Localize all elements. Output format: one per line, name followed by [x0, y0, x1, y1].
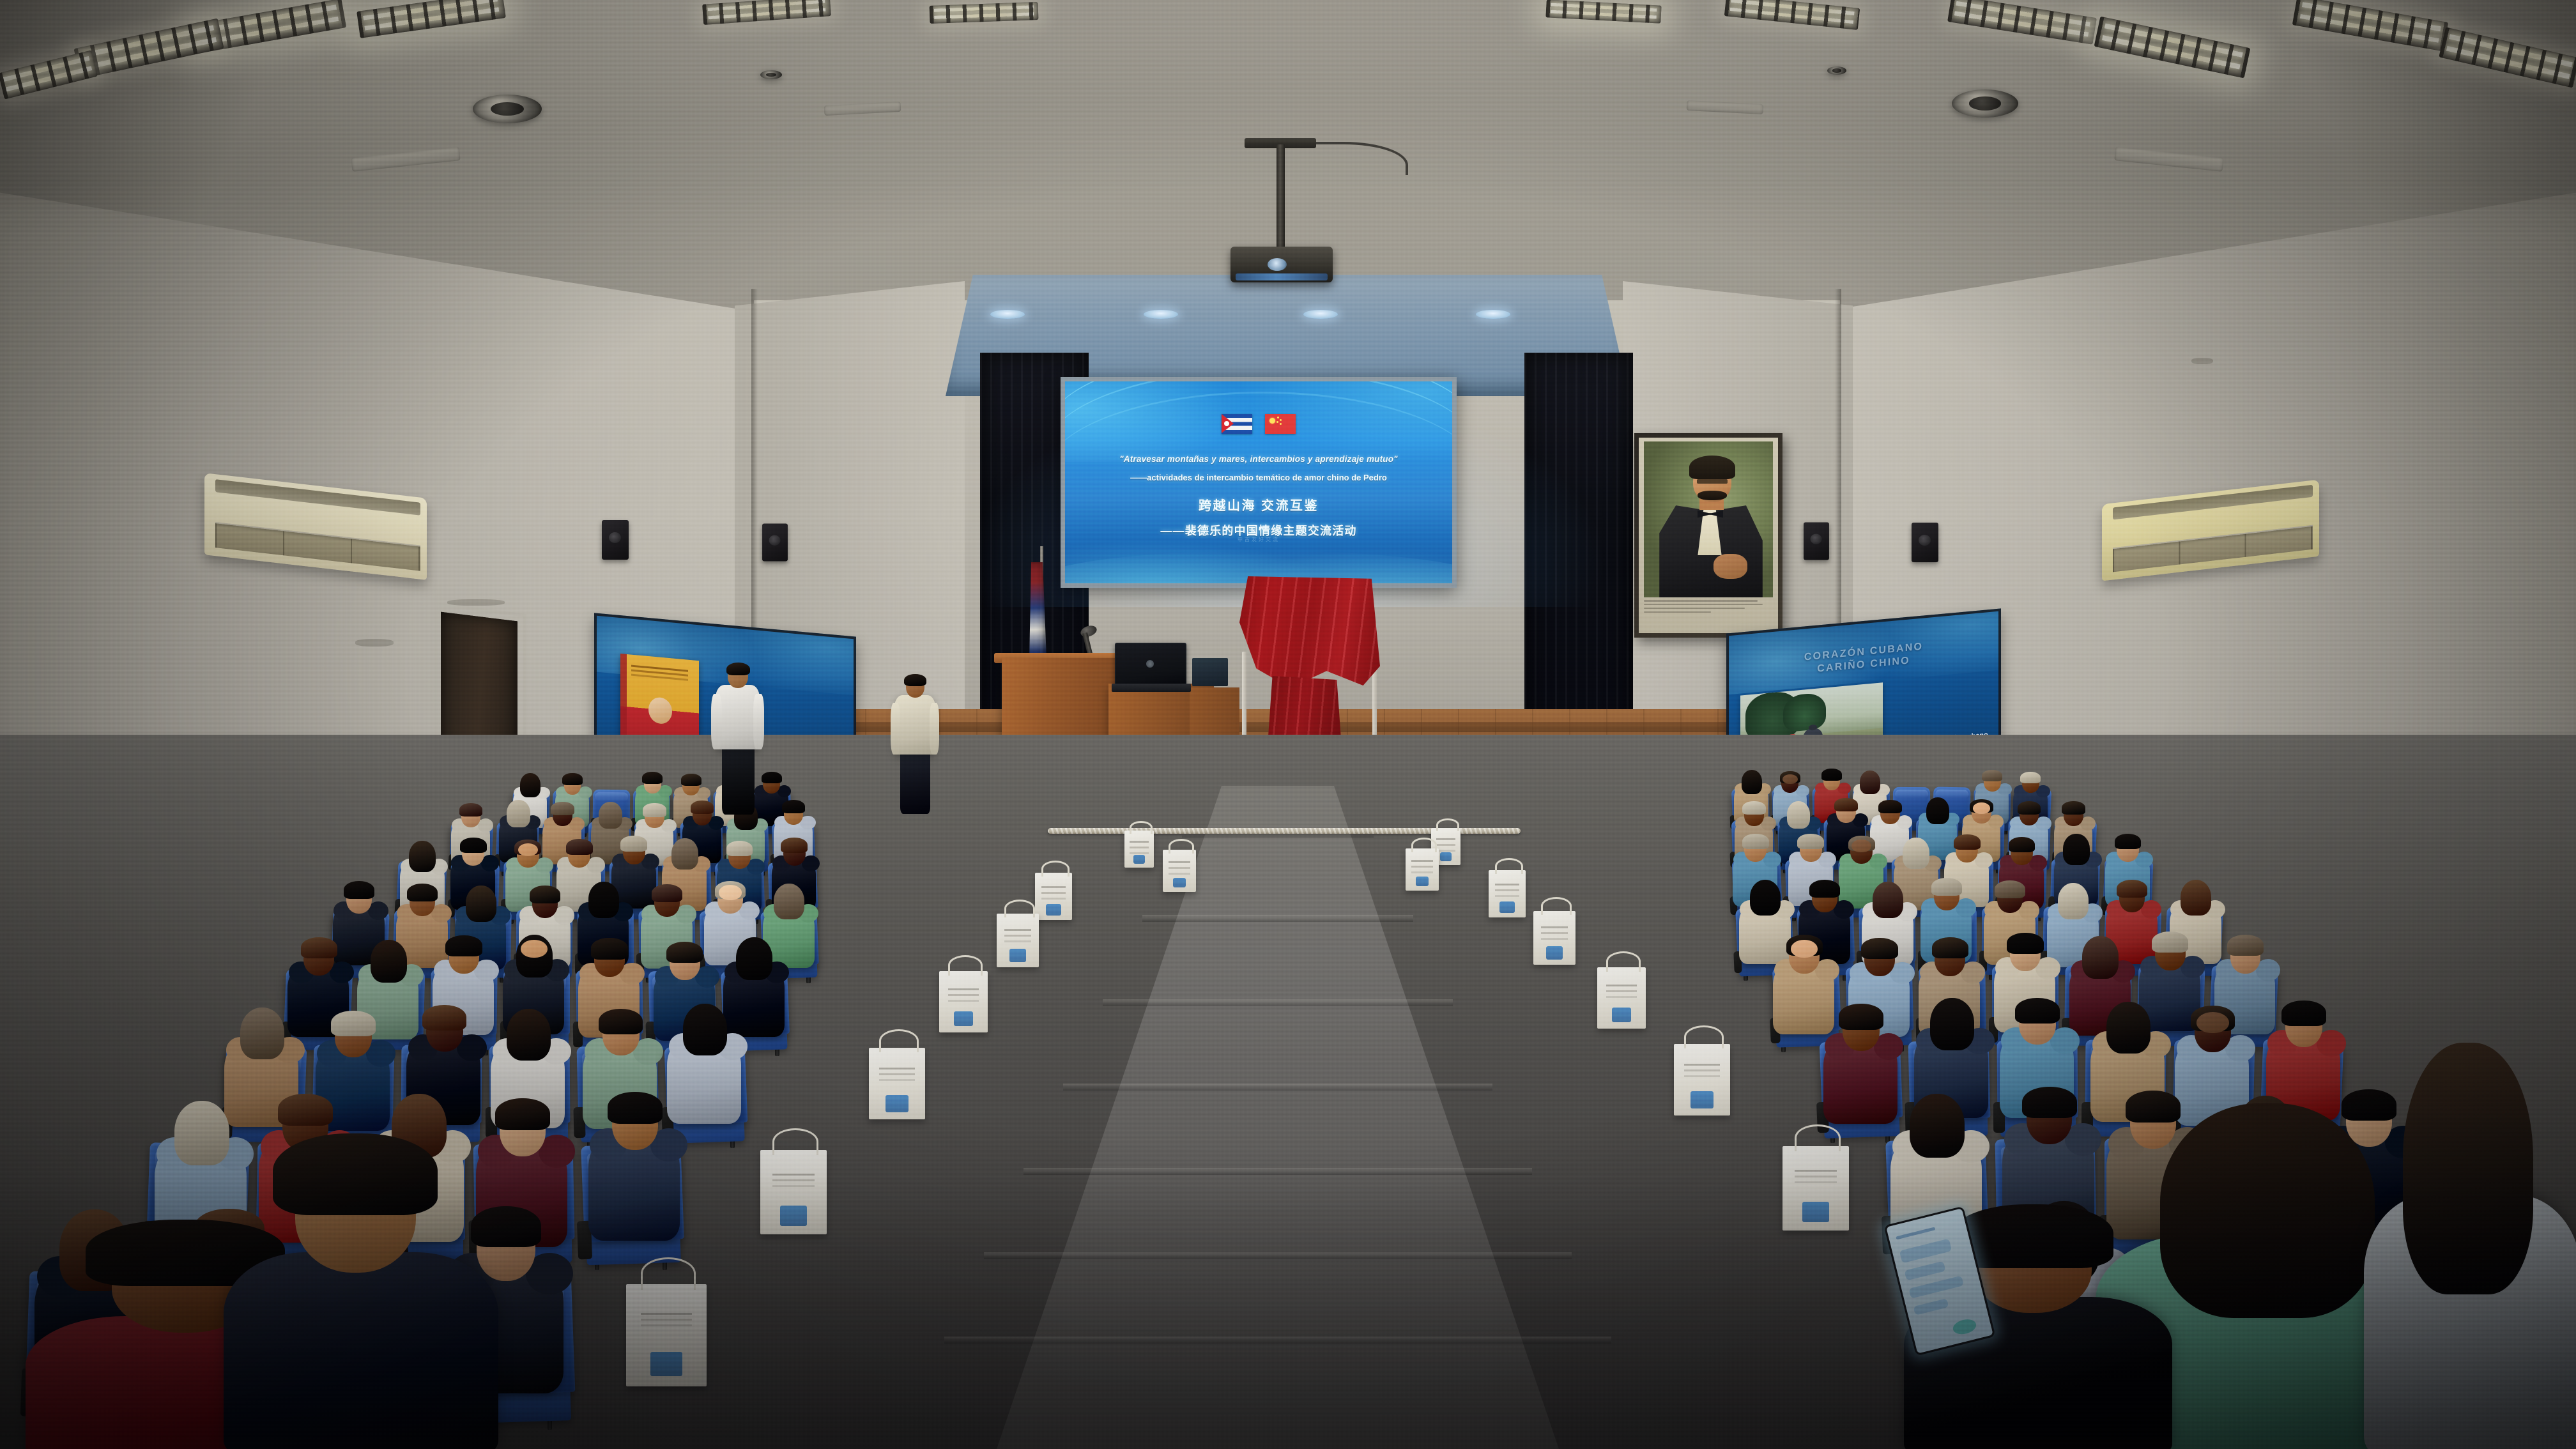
framed-portrait-jose-marti	[1634, 433, 1782, 638]
foreground-attendee-dark-hair	[273, 1133, 438, 1215]
attendee-hair	[781, 838, 808, 853]
attendee-bald-crown	[1851, 839, 1871, 852]
attendee-hair	[2018, 801, 2041, 815]
attendee-hair	[1931, 878, 1963, 896]
attendee-hair	[591, 938, 627, 959]
tote-bag-icon[interactable]	[1533, 911, 1575, 965]
attendee-hair	[762, 772, 782, 784]
attendee-hair	[278, 1094, 333, 1126]
attendee-hair	[2015, 998, 2060, 1023]
tote-bag-icon[interactable]	[939, 971, 988, 1032]
attendee-bald-crown	[1973, 802, 1990, 814]
attendee-hair	[1982, 770, 2002, 782]
attendee-hair	[507, 1009, 551, 1061]
portrait-hair	[1689, 456, 1736, 479]
speaker-icon	[602, 520, 629, 560]
attendee-hair	[1742, 801, 1765, 815]
attendee-hair	[1797, 834, 1824, 849]
tote-bag-icon[interactable]	[626, 1284, 707, 1386]
wall-scuff	[447, 599, 505, 606]
attendee-hair	[1861, 938, 1897, 959]
attendee-hair	[1821, 769, 1842, 781]
attendee-hair	[1834, 798, 1857, 811]
attendee-hair	[599, 1009, 643, 1034]
attendee-hair	[652, 884, 683, 902]
portrait-moustache	[1698, 491, 1727, 500]
attendee-hair	[460, 838, 487, 853]
attendee-hair	[495, 1098, 550, 1130]
attendee-bald-crown	[521, 940, 548, 958]
aisle-step	[1063, 1084, 1492, 1091]
attendee-hair	[620, 836, 647, 851]
attendee-hair	[371, 940, 407, 983]
tote-bag-icon[interactable]	[1163, 850, 1196, 892]
tote-bag-icon[interactable]	[1674, 1044, 1730, 1115]
foreground-attendee-dark-torso	[224, 1252, 498, 1449]
attendee-hair	[2082, 936, 2119, 979]
attendee-hair	[174, 1101, 229, 1165]
ceiling-speaker-icon	[760, 70, 782, 79]
aisle-step	[1103, 999, 1453, 1006]
attendee-hair	[2115, 834, 2142, 849]
attendee-hair	[2007, 933, 2043, 954]
downlight-icon	[990, 310, 1025, 319]
tote-bag-icon[interactable]	[1035, 873, 1072, 920]
attendee-hair	[691, 801, 714, 814]
attendee-hair	[1926, 797, 1949, 825]
attendee-hair	[2126, 1091, 2181, 1123]
wall-scuff	[355, 639, 394, 647]
portrait-mat	[1639, 438, 1778, 633]
attendee-hair	[2281, 1000, 2326, 1026]
attendee-hair	[2342, 1089, 2396, 1121]
tote-bag-icon[interactable]	[1782, 1146, 1849, 1230]
projection-screen: "Atravesar montañas y mares, intercambio…	[1065, 381, 1452, 583]
attendee-hair	[466, 885, 497, 922]
standing-man-white-shirt-arm-left	[711, 694, 722, 749]
aisle-step	[1023, 1168, 1532, 1175]
tote-bag-icon[interactable]	[760, 1150, 827, 1234]
downlight-icon	[1476, 310, 1510, 319]
attendee-hair	[671, 838, 698, 870]
slide-text-block: "Atravesar montañas y mares, intercambio…	[1080, 454, 1437, 539]
attendee-hair	[471, 1206, 541, 1247]
attendee-hair	[643, 803, 666, 816]
attendee-hair	[666, 942, 703, 963]
wall-scuff	[2191, 358, 2213, 364]
standing-man-guayabera-trousers	[900, 746, 930, 814]
tote-bag-icon[interactable]	[997, 914, 1039, 967]
attendee-hair	[331, 1011, 376, 1036]
attendee-hair	[2227, 935, 2264, 956]
attendee-hair	[2106, 1002, 2151, 1054]
tote-bag-icon[interactable]	[1406, 848, 1439, 891]
slide-line-2: ——actividades de intercambio temático de…	[1080, 473, 1437, 483]
attendee-hair	[551, 802, 574, 815]
aisle-step	[984, 1252, 1572, 1259]
attendee-hair	[1742, 770, 1762, 793]
attendee-hair	[1954, 834, 1981, 850]
attendee-hair	[599, 802, 622, 829]
slide-line-1: "Atravesar montañas y mares, intercambio…	[1080, 454, 1437, 464]
standing-man-white-shirt-trousers	[722, 741, 755, 815]
projector-pole	[1276, 144, 1285, 250]
ceiling-speaker-icon	[473, 95, 542, 123]
attendee-hair	[1787, 801, 1810, 829]
attendee-hair	[1995, 880, 2026, 898]
projector-lens	[1268, 258, 1287, 271]
downlight-icon	[1303, 310, 1338, 319]
standing-man-guayabera-arm-left	[891, 703, 900, 755]
downlight-icon	[1144, 310, 1178, 319]
attendee-bald-crown	[1791, 940, 1818, 958]
attendee-hair	[642, 772, 663, 784]
attendee-hair	[1932, 937, 1968, 958]
attendee-hair	[2062, 801, 2085, 815]
attendee-hair	[409, 841, 436, 872]
attendee-hair	[520, 773, 540, 797]
attendee-hair	[1930, 998, 1975, 1050]
attendee-hair	[301, 937, 337, 958]
attendee-hair	[459, 803, 482, 816]
attendee-hair	[2009, 837, 2035, 852]
attendee-hair	[1750, 880, 1781, 916]
projection-screen-frame: "Atravesar montañas y mares, intercambio…	[1061, 377, 1457, 588]
attendee-hair	[1839, 1004, 1883, 1029]
ceiling-speaker-icon	[1827, 66, 1846, 75]
attendee-hair	[507, 800, 530, 827]
attendee-hair	[562, 773, 583, 785]
attendee-hair	[2063, 834, 2090, 865]
foreground-attendee-right-edge-hair	[2403, 1043, 2533, 1294]
speaker-icon	[1804, 523, 1829, 560]
attendee-hair	[566, 839, 593, 854]
attendee-hair	[681, 774, 701, 786]
tote-bag-icon[interactable]	[869, 1048, 925, 1119]
china-flag-icon	[1265, 414, 1296, 434]
attendee-hair	[2022, 1087, 2077, 1119]
attendee-hair	[1860, 770, 1880, 794]
attendee-hair	[588, 882, 620, 918]
standing-man-white-shirt-hair	[726, 663, 750, 676]
standing-man-white-shirt-arm-right	[753, 694, 764, 749]
attendee-hair	[1742, 834, 1769, 849]
laptop-icon[interactable]	[1115, 643, 1186, 686]
attendee-hair	[2181, 880, 2212, 916]
tote-bag-icon[interactable]	[1124, 831, 1154, 868]
standing-man-guayabera-hair	[904, 674, 926, 686]
attendee-hair	[445, 935, 482, 956]
attendee-hair	[1878, 800, 1901, 813]
aisle-step	[1142, 915, 1413, 922]
attendee-hair	[1910, 1094, 1965, 1158]
attendee-hair	[422, 1005, 467, 1031]
portrait-hand	[1713, 554, 1747, 579]
attendee-hair	[2058, 883, 2089, 919]
portrait-caption-lines	[1644, 597, 1773, 628]
attendee-hair	[407, 884, 438, 901]
auditorium-photo: "Atravesar montañas y mares, intercambio…	[0, 0, 2576, 1449]
ceiling-speaker-icon	[1952, 89, 2018, 118]
attendee-bald-crown	[518, 843, 538, 856]
attendee-hair	[344, 881, 375, 899]
cuba-flag-icon	[1222, 414, 1252, 434]
slide-flags	[1065, 414, 1452, 434]
attendee-hair	[683, 1004, 728, 1055]
tote-bag-icon[interactable]	[1489, 870, 1526, 917]
monitor-icon	[1192, 658, 1228, 686]
attendee-hair	[2117, 880, 2148, 898]
attendee-hair	[240, 1008, 285, 1059]
tote-bag-icon[interactable]	[1597, 967, 1646, 1029]
foreground-attendee-mint-hair	[2160, 1103, 2375, 1318]
portrait-image	[1644, 441, 1773, 597]
attendee-hair	[2020, 772, 2041, 784]
attendee-hair	[2152, 931, 2188, 953]
attendee-bald-crown	[2196, 1012, 2229, 1034]
speaker-icon	[1912, 523, 1938, 562]
speaker-icon	[762, 524, 788, 562]
attendee-bald-crown	[719, 885, 742, 900]
attendee-hair	[726, 841, 753, 856]
attendee-hair	[530, 885, 561, 903]
laptop-keyboard[interactable]	[1112, 684, 1191, 692]
attendee-hair	[774, 884, 805, 920]
standing-man-guayabera-arm-right	[930, 703, 939, 755]
portrait-brow	[1697, 479, 1728, 484]
attendee-hair	[608, 1092, 663, 1124]
attendee-hair	[1873, 882, 1904, 918]
ceiling-light-panel	[930, 2, 1039, 24]
attendee-bald-crown	[1782, 774, 1797, 785]
attendee-hair	[1903, 838, 1929, 869]
attendee-hair	[782, 800, 805, 813]
attendee-hair	[736, 937, 772, 980]
attendee-hair	[1809, 880, 1841, 898]
slide-line-3: 跨越山海 交流互鉴	[1080, 495, 1437, 514]
aisle-step	[944, 1337, 1611, 1344]
